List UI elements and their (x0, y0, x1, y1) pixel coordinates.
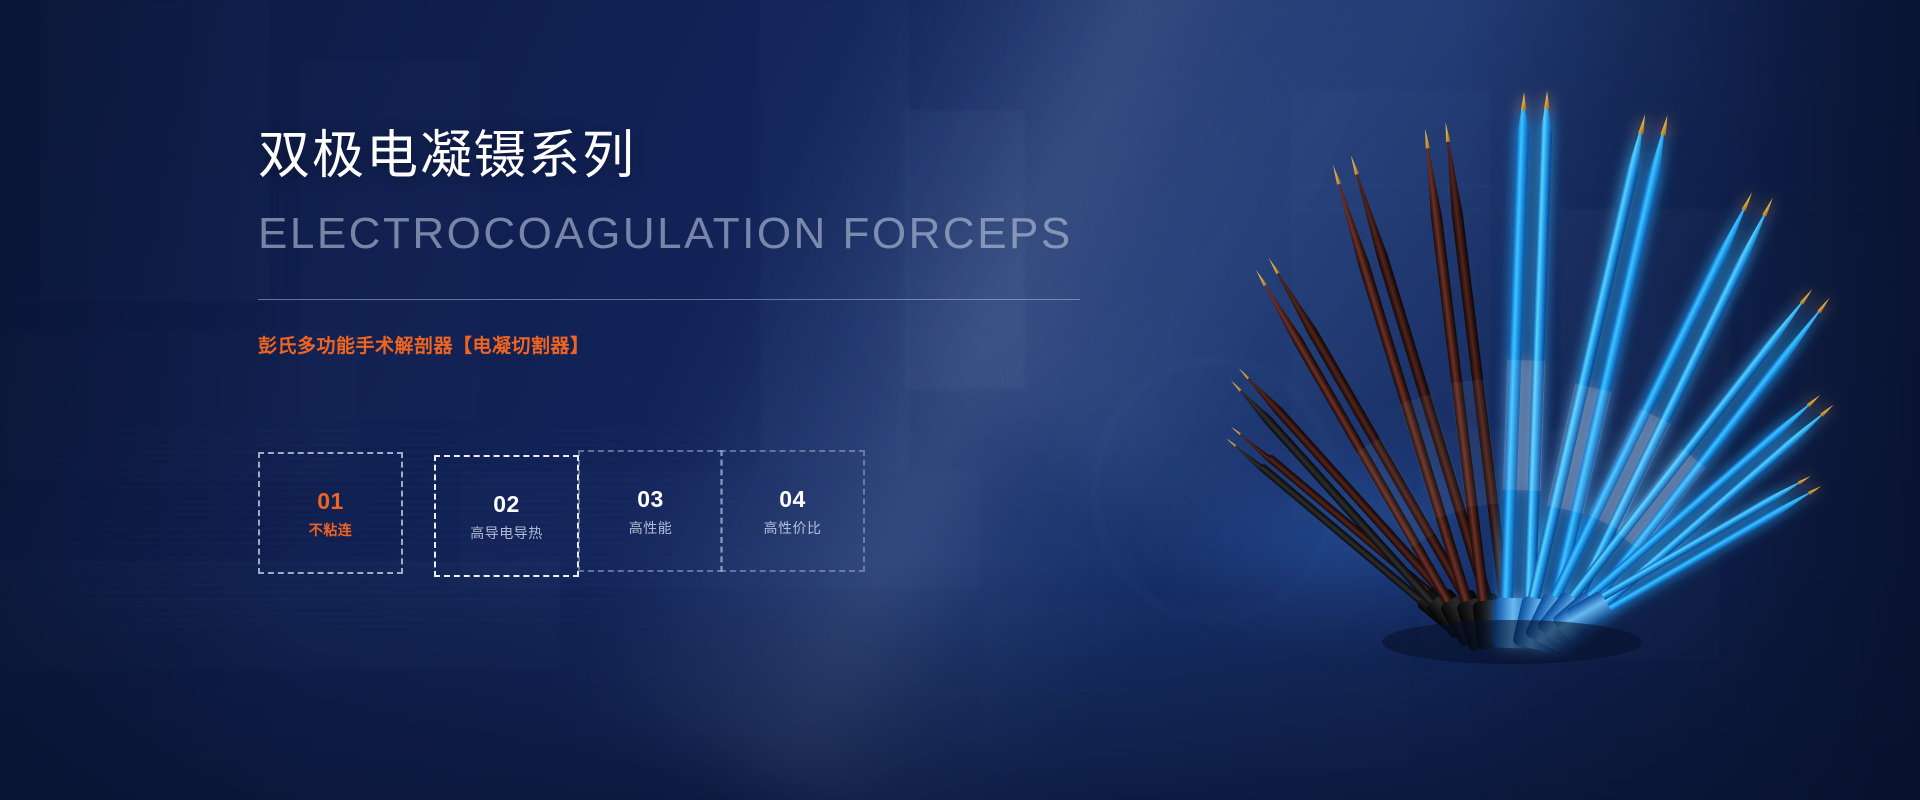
feature-item-01[interactable]: 01 不粘连 (258, 452, 403, 574)
page-title: 双极电凝镊系列 (258, 130, 636, 182)
feature-number: 04 (779, 488, 806, 511)
feature-number: 03 (637, 488, 664, 511)
feature-item-04[interactable]: 04 高性价比 (720, 450, 865, 572)
feature-item-02[interactable]: 02 高导电导热 (434, 455, 579, 577)
feature-label: 高性价比 (764, 521, 822, 535)
banner-content: 双极电凝镊系列 ELECTROCOAGULATION FORCEPS 彭氏多功能… (258, 0, 1158, 800)
feature-number: 01 (317, 490, 344, 513)
page-subtitle-english: ELECTROCOAGULATION FORCEPS (258, 212, 1073, 256)
product-banner: 双极电凝镊系列 ELECTROCOAGULATION FORCEPS 彭氏多功能… (0, 0, 1920, 800)
feature-label: 高导电导热 (470, 526, 543, 540)
feature-number: 02 (493, 493, 520, 516)
feature-list: 01 不粘连 02 高导电导热 03 高性能 04 高性价比 (258, 450, 958, 590)
feature-label: 不粘连 (309, 523, 353, 537)
feature-item-03[interactable]: 03 高性能 (578, 450, 723, 572)
feature-label: 高性能 (629, 521, 673, 535)
product-description: 彭氏多功能手术解剖器【电凝切割器】 (258, 336, 590, 359)
divider (258, 299, 1080, 300)
